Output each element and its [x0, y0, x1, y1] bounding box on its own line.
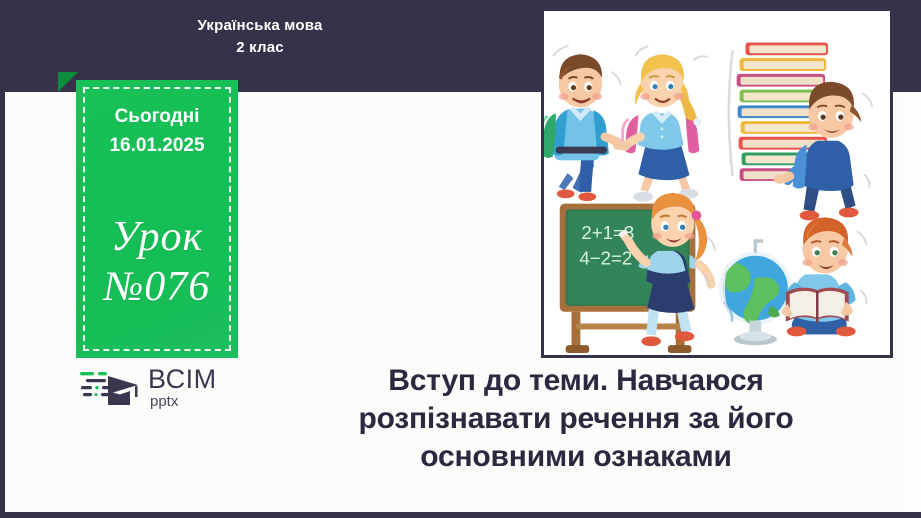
presentation-slide: Українська мова 2 клас Сьогодні 16.01.20…	[0, 0, 921, 518]
title-line-3: основними ознаками	[252, 438, 900, 476]
logo-name: ВСІМ	[148, 366, 217, 393]
vsim-pptx-logo[interactable]: ВСІМ pptx	[78, 362, 238, 412]
right-white-strip	[908, 91, 921, 518]
open-book	[786, 288, 849, 323]
title-line-1: Вступ до теми. Навчаюся	[252, 362, 900, 400]
slide-title: Вступ до теми. Навчаюся розпізнавати реч…	[252, 362, 900, 476]
card-fold-corner	[58, 72, 78, 92]
title-line-2: розпізнавати речення за його	[252, 400, 900, 438]
logo-subname: pptx	[150, 394, 217, 409]
card-lesson-block: Урок №076	[76, 213, 238, 312]
chalkboard-line-2: 4−2=2	[579, 248, 632, 269]
left-accent-strip	[0, 91, 5, 518]
bottom-accent-strip	[0, 512, 921, 518]
logo-wordmark: ВСІМ pptx	[148, 366, 217, 409]
date-lesson-card: Сьогодні 16.01.2025 Урок №076	[76, 80, 238, 358]
illustration-card: 2+1=3 4−2=2	[541, 8, 893, 358]
school-children-illustration: 2+1=3 4−2=2	[544, 11, 890, 355]
header-grade: 2 клас	[0, 37, 520, 59]
header-subject: Українська мова	[197, 17, 322, 34]
header-subject-block: Українська мова 2 клас	[0, 15, 520, 59]
lesson-date: 16.01.2025	[76, 131, 238, 160]
today-label: Сьогодні	[76, 102, 238, 131]
card-date-block: Сьогодні 16.01.2025	[76, 102, 238, 161]
graduation-cap-icon	[78, 364, 144, 410]
lesson-number: №076	[76, 263, 238, 313]
lesson-word: Урок	[76, 213, 238, 263]
